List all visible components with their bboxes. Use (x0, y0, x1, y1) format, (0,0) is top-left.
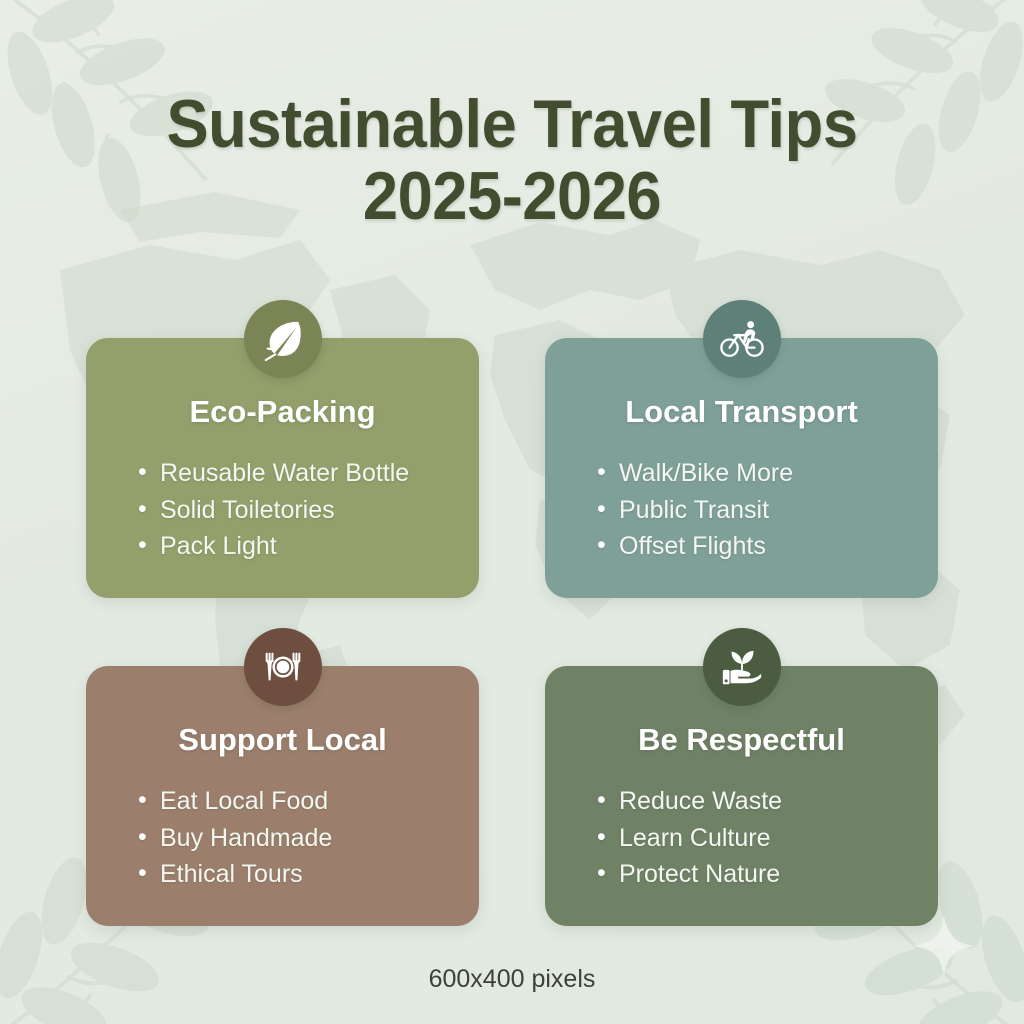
list-item: Buy Handmade (138, 820, 479, 857)
list-item: Reduce Waste (597, 783, 938, 820)
tip-list: Eat Local Food Buy Handmade Ethical Tour… (86, 783, 479, 893)
hand-sprout-icon (719, 644, 765, 690)
leaf-icon (260, 316, 306, 362)
list-item: Offset Flights (597, 528, 938, 565)
support-local-badge (244, 628, 322, 706)
tip-card-eco-packing[interactable]: Eco-Packing Reusable Water Bottle Solid … (86, 338, 479, 598)
tip-card-be-respectful[interactable]: Be Respectful Reduce Waste Learn Culture… (545, 666, 938, 926)
list-item: Walk/Bike More (597, 455, 938, 492)
list-item: Reusable Water Bottle (138, 455, 479, 492)
infographic-poster: Sustainable Travel Tips 2025-2026 Eco-Pa… (0, 0, 1024, 1024)
tips-card-grid: Eco-Packing Reusable Water Bottle Solid … (86, 338, 938, 938)
tip-card-local-transport[interactable]: Local Transport Walk/Bike More Public Tr… (545, 338, 938, 598)
be-respectful-badge (703, 628, 781, 706)
tip-list: Walk/Bike More Public Transit Offset Fli… (545, 455, 938, 565)
plate-fork-knife-icon (260, 644, 306, 690)
card-title: Support Local (86, 724, 479, 755)
list-item: Pack Light (138, 528, 479, 565)
eco-packing-badge (244, 300, 322, 378)
card-title: Local Transport (545, 396, 938, 427)
page-title: Sustainable Travel Tips 2025-2026 (0, 88, 1024, 232)
list-item: Solid Toiletories (138, 492, 479, 529)
card-title: Eco-Packing (86, 396, 479, 427)
list-item: Ethical Tours (138, 856, 479, 893)
list-item: Eat Local Food (138, 783, 479, 820)
card-title: Be Respectful (545, 724, 938, 755)
local-transport-badge (703, 300, 781, 378)
tip-card-support-local[interactable]: Support Local Eat Local Food Buy Handmad… (86, 666, 479, 926)
list-item: Protect Nature (597, 856, 938, 893)
title-line-years: 2025-2026 (36, 160, 988, 232)
tip-list: Reduce Waste Learn Culture Protect Natur… (545, 783, 938, 893)
list-item: Learn Culture (597, 820, 938, 857)
title-line-primary: Sustainable Travel Tips (36, 88, 988, 160)
footer-caption: 600x400 pixels (0, 965, 1024, 994)
bicycle-icon (719, 316, 765, 362)
tip-list: Reusable Water Bottle Solid Toiletories … (86, 455, 479, 565)
list-item: Public Transit (597, 492, 938, 529)
